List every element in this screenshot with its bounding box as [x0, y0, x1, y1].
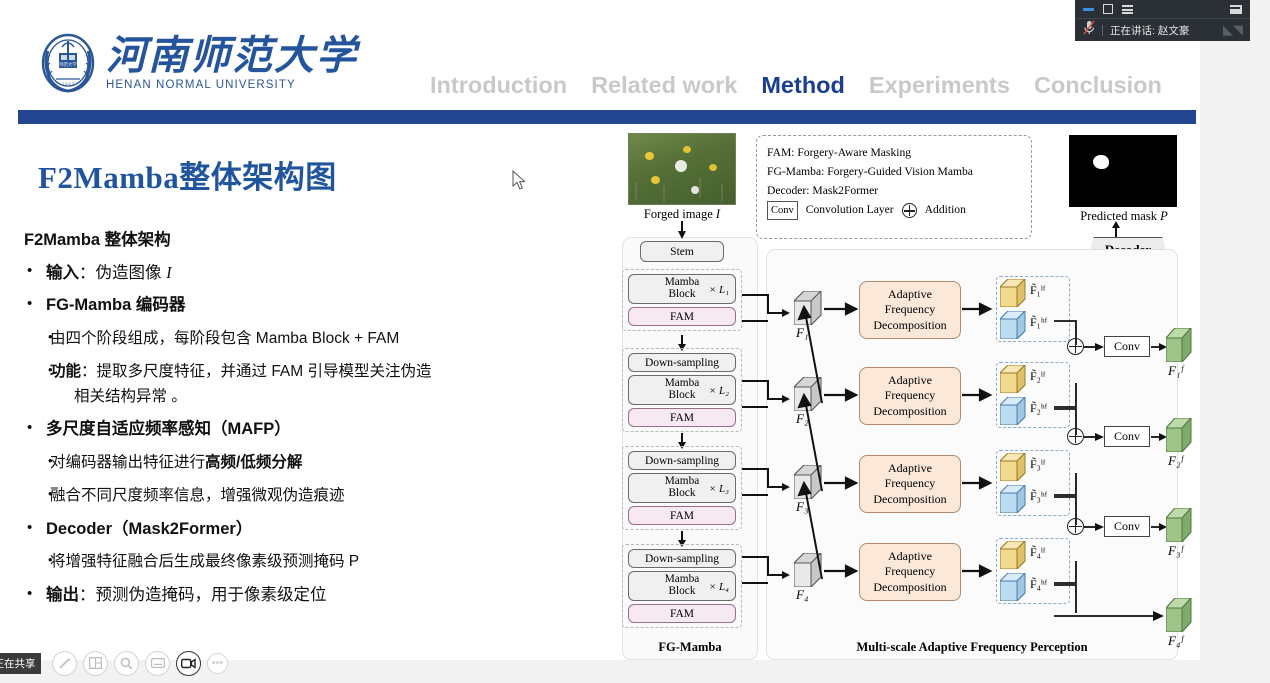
- more-tool-icon[interactable]: •••: [207, 653, 228, 674]
- mamba-repeat-3: × L₃: [709, 483, 729, 495]
- university-crest-icon: 师范大学 1 9 2 3: [40, 33, 96, 93]
- fam-block-4: FAM: [628, 604, 736, 623]
- fused-cube-1: [1166, 328, 1192, 367]
- university-name-cn: 河南师范大学: [106, 35, 358, 77]
- conv-block-2: Conv: [1104, 426, 1150, 447]
- mask-blob: [1093, 155, 1109, 169]
- conv-block-3: Conv: [1104, 516, 1150, 537]
- bullet-mafp-sub1-pre: 对编码器输出特征进行: [50, 454, 205, 471]
- arrow-decoder-to-mask: [1110, 221, 1122, 239]
- legend-line-fgmamba: FG-Mamba: Forgery-Guided Vision Mamba: [767, 163, 1021, 182]
- mafp-panel-title: Multi-scale Adaptive Frequency Perceptio…: [767, 640, 1177, 655]
- bullet-decoder-sub1: • 将增强特征融合后生成最终像素级预测掩码 P: [24, 551, 614, 573]
- arrow-add3-to-conv3: [1084, 523, 1104, 531]
- bullet-mafp-sub2-text: 融合不同尺度频率信息，增强微观伪造痕迹: [50, 485, 345, 507]
- meeting-control-bar[interactable]: 正在讲话: 赵文豪 ◣◥: [1075, 0, 1250, 41]
- legend-conv-text: Convolution Layer: [806, 201, 894, 220]
- afd-block-1: AdaptiveFrequencyDecomposition: [859, 281, 961, 339]
- bullet-mafp-sub1: • 对编码器输出特征进行高频/低频分解: [24, 452, 614, 474]
- hf-cube-2: [1000, 397, 1026, 430]
- bullet-output: • 输出：预测伪造掩码，用于像素级定位: [24, 585, 614, 606]
- bullet-encoder-sub2-cont: 相关结构异常 。: [74, 386, 614, 408]
- lf-cube-3: [1000, 453, 1026, 486]
- hf-cube-1: [1000, 311, 1026, 344]
- hf-label-1: F̃₁ʰᶠ: [1030, 315, 1047, 330]
- symbol-P: P: [1160, 209, 1168, 223]
- bullet-output-label: 输出: [46, 586, 79, 604]
- bullet-marker: •: [24, 419, 46, 438]
- encoder-stage-3: Down-sampling MambaBlock × L₃ FAM: [622, 446, 742, 530]
- layout-tool-icon[interactable]: [83, 651, 108, 676]
- university-name-en: HENAN NORMAL UNIVERSITY: [106, 79, 358, 91]
- addition-node-2: [1067, 428, 1084, 445]
- symbol-I: I: [166, 263, 172, 282]
- arrow-image-to-stem: [676, 221, 688, 239]
- lf-label-1: F̃₁ˡᶠ: [1030, 283, 1045, 298]
- bullet-mafp: • 多尺度自适应频率感知（MAFP）: [24, 419, 614, 440]
- bullet-encoder-sub1-text: 由四个阶段组成，每阶段包含 Mamba Block + FAM: [50, 328, 399, 350]
- fam-block-1: FAM: [628, 307, 736, 326]
- section-heading: F2Mamba 整体架构: [24, 226, 614, 250]
- fusion-wiring: [1054, 283, 1102, 613]
- hf-cube-4: [1000, 573, 1026, 606]
- arrow-add2-to-conv2: [1084, 433, 1104, 441]
- bullet-decoder-label: Decoder（Mask2Former）: [46, 519, 252, 540]
- encoder-stage-2: Down-sampling MambaBlock × L₂ FAM: [622, 348, 742, 432]
- fused-cube-2: [1166, 418, 1192, 457]
- afd-block-4: AdaptiveFrequencyDecomposition: [859, 543, 961, 601]
- encoder-stage-4: Down-sampling MambaBlock × L₄ FAM: [622, 544, 742, 628]
- bullet-mafp-label: 多尺度自适应频率感知（MAFP）: [46, 419, 291, 440]
- hf-label-4: F̃₄ʰᶠ: [1030, 577, 1047, 592]
- hf-label-3: F̃₃ʰᶠ: [1030, 489, 1047, 504]
- forged-image-thumbnail: [628, 133, 736, 205]
- lf-label-2: F̃₂ˡᶠ: [1030, 369, 1045, 384]
- bullet-marker: •: [24, 585, 46, 604]
- lf-cube-2: [1000, 365, 1026, 398]
- mamba-block-2: MambaBlock × L₂: [628, 375, 736, 405]
- legend-conv-chip: Conv: [767, 201, 798, 220]
- bullet-encoder-sub1: • 由四个阶段组成，每阶段包含 Mamba Block + FAM: [24, 328, 614, 350]
- arrow-conv1-to-cube1: [1151, 343, 1167, 351]
- bullet-output-text: ：预测伪造掩码，用于像素级定位: [79, 586, 327, 604]
- hf-label-2: F̃₂ʰᶠ: [1030, 401, 1047, 416]
- bullet-encoder-sub2: • 功能：提取多尺度特征，并通过 FAM 引导模型关注伪造: [24, 361, 614, 383]
- page-title: F2Mamba整体架构图: [38, 152, 337, 197]
- bullet-marker: •: [24, 295, 46, 314]
- annotation-toolbar[interactable]: 豪正在共享 •••: [0, 648, 250, 678]
- arrow-add1-to-conv1: [1084, 343, 1104, 351]
- bullet-encoder-label: FG-Mamba 编码器: [46, 295, 185, 316]
- section-nav[interactable]: Introduction Related work Method Experim…: [430, 72, 1162, 99]
- bullet-marker: •: [24, 485, 50, 503]
- mamba-block-1: MambaBlock × L₁: [628, 274, 736, 304]
- meeting-speaking-row: 正在讲话: 赵文豪 ◣◥: [1075, 19, 1250, 41]
- bullet-input-text: ：伪造图像: [79, 264, 166, 282]
- magnifier-tool-icon[interactable]: [114, 651, 139, 676]
- predicted-mask-caption: Predicted mask P: [1039, 209, 1209, 224]
- camera-tool-icon[interactable]: [176, 651, 201, 676]
- lf-cube-4: [1000, 541, 1026, 574]
- mouse-cursor-icon: [512, 170, 528, 192]
- bullet-marker: •: [24, 551, 50, 569]
- arrow-hf4-to-cube4: [1054, 611, 1166, 621]
- mamba-repeat-2: × L₂: [709, 385, 729, 397]
- addition-node-3: [1067, 518, 1084, 535]
- arrow-conv2-to-cube2: [1151, 433, 1167, 441]
- architecture-figure: Forged image I FAM: Forgery-Aware Maskin…: [614, 133, 1186, 660]
- svg-text:1 9 2 3: 1 9 2 3: [62, 81, 75, 86]
- mamba-repeat-1: × L₁: [709, 284, 729, 296]
- lf-label-4: F̃₄ˡᶠ: [1030, 545, 1045, 560]
- predicted-mask-thumbnail: [1069, 135, 1177, 207]
- feature-to-afd-arrows: [824, 301, 860, 641]
- bullet-mafp-sub2: • 融合不同尺度频率信息，增强微观伪造痕迹: [24, 485, 614, 507]
- bullet-decoder: • Decoder（Mask2Former）: [24, 519, 614, 540]
- legend-addition-text: Addition: [925, 201, 966, 220]
- mamba-repeat-4: × L₄: [709, 581, 729, 593]
- mamba-block-3: MambaBlock × L₃: [628, 473, 736, 503]
- divider: [1102, 25, 1103, 36]
- bullet-input: • 输入：伪造图像 I: [24, 262, 614, 284]
- conv-block-1: Conv: [1104, 336, 1150, 357]
- downsample-block-3: Down-sampling: [628, 451, 736, 470]
- legend-line-fam: FAM: Forgery-Aware Masking: [767, 144, 1021, 163]
- encoder-stage-1: MambaBlock × L₁ FAM: [622, 269, 742, 331]
- afd-to-decomp-arrows: [962, 301, 994, 641]
- bullet-encoder: • FG-Mamba 编码器: [24, 295, 614, 316]
- expand-icon[interactable]: [1230, 5, 1242, 14]
- nav-item-introduction[interactable]: Introduction: [430, 72, 567, 99]
- hf-cube-3: [1000, 485, 1026, 518]
- slide-body: F2Mamba 整体架构 • 输入：伪造图像 I • FG-Mamba 编码器 …: [24, 226, 614, 617]
- pen-tool-icon[interactable]: [52, 651, 77, 676]
- addition-node-1: [1067, 338, 1084, 355]
- symbol-I: I: [716, 207, 720, 221]
- audio-wave-icon: ◣◥: [1223, 22, 1243, 38]
- slide-header: 师范大学 1 9 2 3 河南师范大学 HENAN NORMAL UNIVERS…: [0, 0, 1200, 112]
- lf-cube-1: [1000, 279, 1026, 312]
- university-logo: 师范大学 1 9 2 3 河南师范大学 HENAN NORMAL UNIVERS…: [40, 33, 358, 93]
- fused-label-1: F₁ᶠ: [1168, 363, 1183, 379]
- subtitle-tool-icon[interactable]: [145, 651, 170, 676]
- fam-block-2: FAM: [628, 408, 736, 427]
- forged-image-caption: Forged image I: [614, 207, 750, 222]
- sharing-status-tooltip: 豪正在共享: [0, 653, 41, 674]
- nav-item-related-work[interactable]: Related work: [591, 72, 737, 99]
- header-divider-bar: [18, 110, 1196, 124]
- nav-item-experiments[interactable]: Experiments: [869, 72, 1010, 99]
- bullet-encoder-sub2-label: 功能: [50, 363, 81, 380]
- svg-text:师范大学: 师范大学: [59, 61, 77, 68]
- addition-icon: [902, 203, 917, 218]
- downsample-block-2: Down-sampling: [628, 353, 736, 372]
- figure-legend: FAM: Forgery-Aware Masking FG-Mamba: For…: [756, 135, 1032, 239]
- bullet-marker: •: [24, 328, 50, 346]
- nav-item-conclusion[interactable]: Conclusion: [1034, 72, 1162, 99]
- stem-block: Stem: [640, 241, 724, 262]
- bullet-input-label: 输入: [46, 264, 79, 282]
- minimize-icon[interactable]: [1083, 8, 1094, 11]
- bullet-marker: •: [24, 262, 46, 281]
- bullet-decoder-sub1-text: 将增强特征融合后生成最终像素级预测掩码 P: [50, 551, 359, 573]
- lf-label-3: F̃₃ˡᶠ: [1030, 457, 1045, 472]
- fused-cube-3: [1166, 508, 1192, 547]
- bullet-marker: •: [24, 519, 46, 538]
- maximize-icon[interactable]: [1103, 4, 1113, 14]
- speaking-label: 正在讲话: 赵文豪: [1110, 23, 1189, 38]
- bullet-encoder-sub2-text: ：提取多尺度特征，并通过 FAM 引导模型关注伪造: [81, 363, 431, 380]
- arrow-conv3-to-cube3: [1151, 523, 1167, 531]
- mamba-block-4: MambaBlock × L₄: [628, 571, 736, 601]
- fg-mamba-panel-title: FG-Mamba: [623, 640, 757, 655]
- menu-icon[interactable]: [1122, 5, 1133, 14]
- fused-label-4: F₄ᶠ: [1168, 633, 1183, 649]
- downsample-block-4: Down-sampling: [628, 549, 736, 568]
- fused-cube-4: [1166, 598, 1192, 637]
- fam-block-3: FAM: [628, 506, 736, 525]
- fused-label-2: F₂ᶠ: [1168, 453, 1183, 469]
- fused-label-3: F₃ᶠ: [1168, 543, 1183, 559]
- bullet-mafp-sub1-bold: 高频/低频分解: [205, 454, 302, 471]
- bullet-marker: •: [24, 452, 50, 470]
- nav-item-method[interactable]: Method: [761, 72, 845, 99]
- presentation-slide: 师范大学 1 9 2 3 河南师范大学 HENAN NORMAL UNIVERS…: [0, 0, 1200, 660]
- bullet-marker: •: [24, 361, 50, 379]
- meeting-window-controls[interactable]: [1075, 0, 1250, 19]
- microphone-muted-icon[interactable]: [1083, 20, 1095, 40]
- afd-block-3: AdaptiveFrequencyDecomposition: [859, 455, 961, 513]
- legend-line-decoder: Decoder: Mask2Former: [767, 182, 1021, 201]
- afd-block-2: AdaptiveFrequencyDecomposition: [859, 367, 961, 425]
